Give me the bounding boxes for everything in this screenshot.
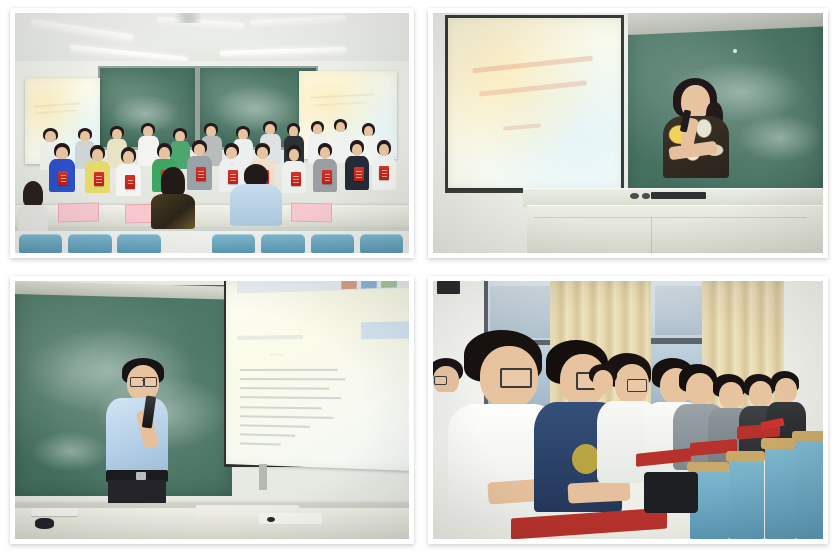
desk-object-remote — [31, 508, 78, 516]
projection-screen — [448, 18, 622, 188]
slide-sidebar-box — [361, 321, 409, 339]
slide-subheading — [269, 354, 284, 356]
projection-screen — [226, 281, 409, 471]
slide-line — [240, 443, 280, 446]
certificate — [196, 167, 206, 181]
glasses — [144, 377, 157, 387]
auditorium-seat — [212, 234, 255, 253]
certificate — [322, 170, 332, 184]
presenter-male — [114, 358, 232, 518]
photo-collage: Group of students standing in rows in a … — [0, 0, 838, 555]
auditorium-seat — [360, 234, 403, 253]
auditorium-seat — [117, 234, 160, 253]
name-plate — [58, 202, 99, 222]
slide-thumb — [361, 281, 377, 288]
photo-bottom-left[interactable]: Male presenter in a light blue shirt spe… — [10, 276, 414, 544]
control-button — [642, 193, 651, 199]
slide-line — [240, 424, 310, 428]
desk-object-mouse — [35, 518, 55, 528]
photo-bottom-right[interactable]: Row of seated students in a lecture hall… — [428, 276, 828, 544]
lectern-body — [527, 205, 823, 253]
slide-line — [240, 378, 345, 380]
auditorium-seat — [261, 234, 304, 253]
slide-line — [472, 56, 593, 74]
slide-line — [240, 387, 330, 390]
auditorium-seat — [68, 234, 111, 253]
window-mullion — [651, 338, 706, 344]
seat-arm — [792, 431, 823, 441]
auditorium-seat — [311, 234, 354, 253]
photo-top-left-image: Group of students standing in rows in a … — [15, 13, 409, 253]
slide-line — [240, 369, 337, 371]
slide-heading — [236, 335, 302, 340]
photo-bottom-right-image: Row of seated students in a lecture hall… — [433, 281, 823, 539]
certificate — [228, 170, 238, 184]
control-panel — [651, 192, 706, 199]
slide-line — [240, 415, 333, 419]
belt-buckle — [136, 472, 146, 480]
seat-arm — [761, 438, 796, 448]
auditorium-seat — [729, 456, 764, 539]
slide-date — [503, 123, 541, 130]
certificate — [291, 172, 301, 186]
photo-top-right-image: Female presenter standing behind a lecte… — [433, 13, 823, 253]
lectern-shadow — [433, 207, 527, 253]
window-view — [655, 286, 702, 335]
photo-top-right[interactable]: Female presenter standing behind a lecte… — [428, 8, 828, 258]
auditorium-seat — [765, 444, 796, 539]
certificate — [58, 171, 68, 185]
auditorium-seat — [19, 234, 62, 253]
auditorium-seat — [796, 436, 823, 539]
seat-arm — [726, 451, 765, 461]
wall-speaker — [437, 281, 460, 294]
audience-member — [589, 364, 636, 467]
slide-line — [479, 80, 587, 96]
chalk-smudge — [31, 431, 110, 472]
certificate — [125, 175, 135, 189]
screen-stand — [259, 464, 267, 490]
certificate — [94, 172, 104, 186]
slide-thumb — [381, 281, 397, 288]
lectern-panel-line — [651, 217, 652, 253]
glasses — [500, 368, 532, 388]
lectern-panel-line — [534, 217, 807, 218]
photo-top-left[interactable]: Group of students standing in rows in a … — [10, 8, 414, 258]
certificate — [354, 167, 364, 181]
name-plate — [291, 202, 332, 222]
slide-line — [240, 433, 295, 436]
certificate — [379, 166, 389, 180]
glasses — [130, 377, 144, 387]
control-button — [630, 193, 639, 199]
slide-line — [240, 406, 322, 409]
glasses-bridge — [142, 380, 145, 381]
photo-bottom-left-image: Male presenter in a light blue shirt spe… — [15, 281, 409, 539]
seat-arm — [687, 462, 730, 472]
slide-thumb — [341, 281, 357, 289]
bag-on-desk — [644, 472, 699, 513]
slide-line — [240, 397, 341, 400]
shirt — [106, 398, 168, 476]
